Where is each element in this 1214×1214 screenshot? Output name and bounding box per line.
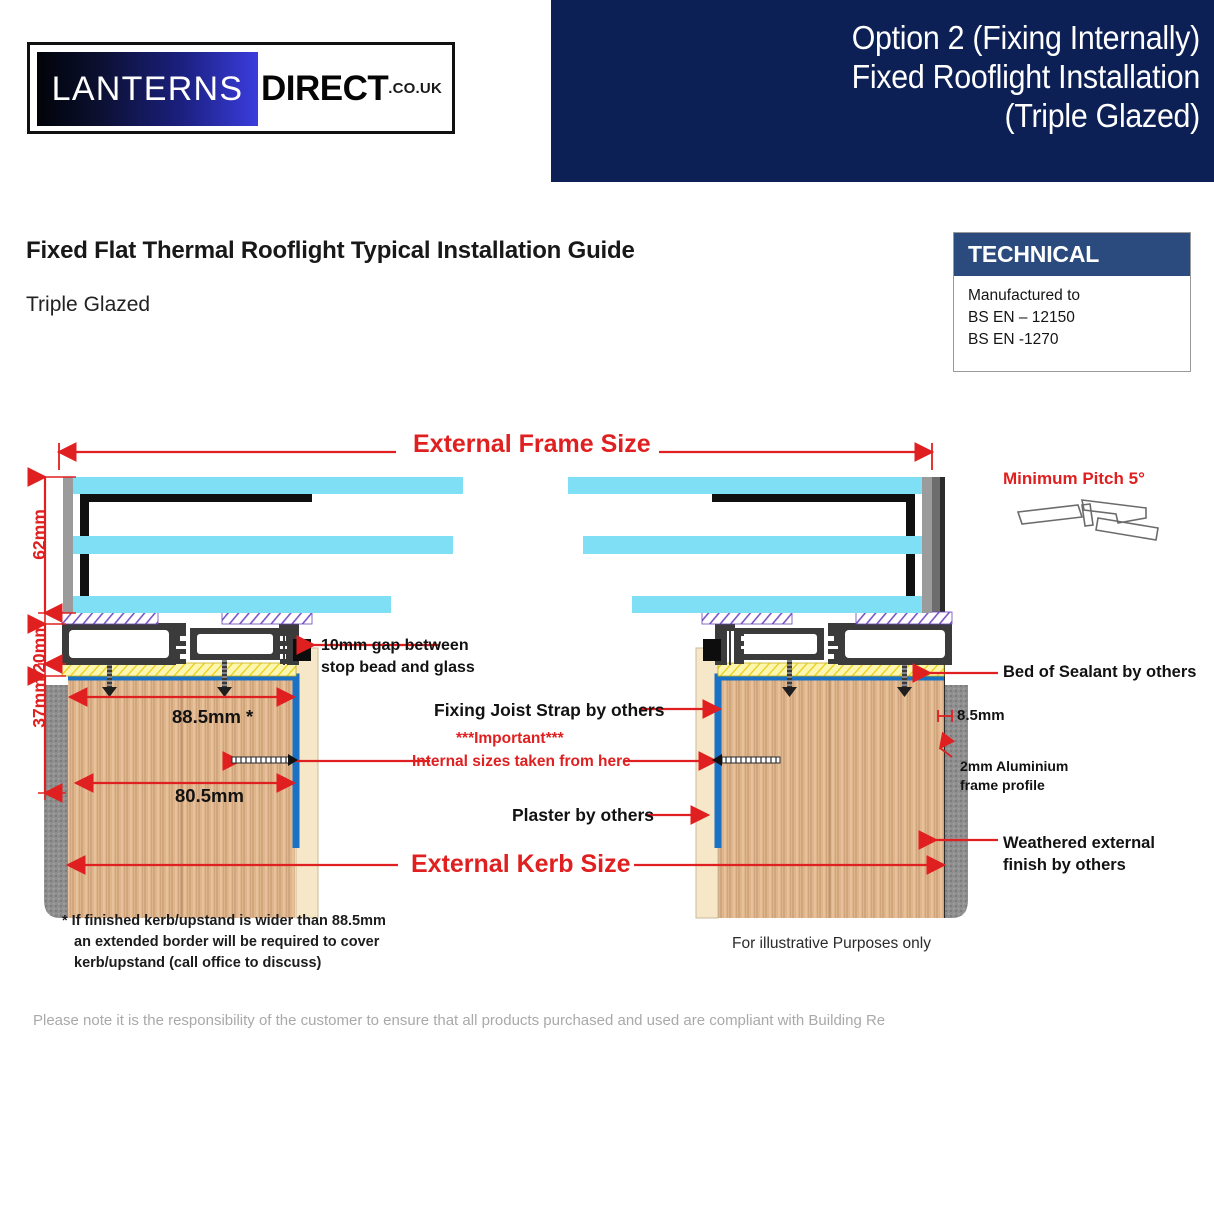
aluminium-frame-profile-right [715,623,952,665]
label-dim-frame-profile: 20mm [29,622,50,673]
glazing-tape-outer-left [62,612,158,624]
label-external-kerb-size: External Kerb Size [411,850,631,879]
glazing-tape-outer-right [856,612,952,624]
label-dim-kerb-overlap: 37mm [29,677,50,728]
glass-pane-middle-right [583,536,922,554]
disclaimer-text: Please note it is the responsibility of … [33,1012,885,1029]
label-external-frame-size: External Frame Size [413,430,651,459]
callout-stop-bead-line1: 10mm gap between [321,635,475,657]
installation-cross-section-diagram [0,0,1214,1214]
aluminium-frame-profile-left [62,623,299,665]
callout-internal-sizes: Internal sizes taken from here [412,753,631,771]
label-kerb-inner-width: 80.5mm [175,785,244,807]
glass-pane-outer-right [568,477,922,494]
glass-pane-middle-left [73,536,453,554]
callout-stop-bead-line2: stop bead and glass [321,657,475,679]
label-upstand-edge-width: 8.5mm [957,707,1005,724]
triple-glazed-unit-right [568,477,932,613]
callout-important: ***Important*** [456,730,564,748]
glass-pane-outer-left [73,477,463,494]
glass-pane-inner-left [73,596,391,613]
callout-plaster: Plaster by others [512,805,654,826]
callout-aluminium-line1: 2mm Aluminium [960,757,1068,776]
callout-weathered-finish: Weathered external finish by others [1003,832,1155,876]
callout-fixing-joist-strap: Fixing Joist Strap by others [434,700,664,721]
callout-weathered-line2: finish by others [1003,854,1155,876]
stop-bead-left [293,639,311,661]
triple-glazed-unit-left [63,477,463,613]
footnote-line-3: kerb/upstand (call office to discuss) [62,953,386,974]
glass-pane-inner-right [632,596,922,613]
stop-bead-right [703,639,721,661]
callout-bed-of-sealant: Bed of Sealant by others [1003,663,1196,682]
callout-weathered-line1: Weathered external [1003,832,1155,854]
callout-stop-bead-gap: 10mm gap between stop bead and glass [321,635,475,679]
footnote-line-1: * If finished kerb/upstand is wider than… [62,911,386,932]
minimum-pitch-icon [1018,500,1158,540]
illustrative-purposes-note: For illustrative Purposes only [732,935,931,953]
glazing-tape-inner-right [702,612,792,624]
glazing-tape-inner-left [222,612,312,624]
label-minimum-pitch: Minimum Pitch 5° [1003,469,1145,489]
label-dim-glass-unit: 62mm [29,509,50,560]
callout-aluminium-profile: 2mm Aluminium frame profile [960,757,1068,795]
callout-aluminium-line2: frame profile [960,776,1068,795]
footnote-kerb-width: * If finished kerb/upstand is wider than… [62,911,386,974]
label-kerb-outer-width: 88.5mm * [172,706,253,728]
footnote-line-2: an extended border will be required to c… [62,932,386,953]
